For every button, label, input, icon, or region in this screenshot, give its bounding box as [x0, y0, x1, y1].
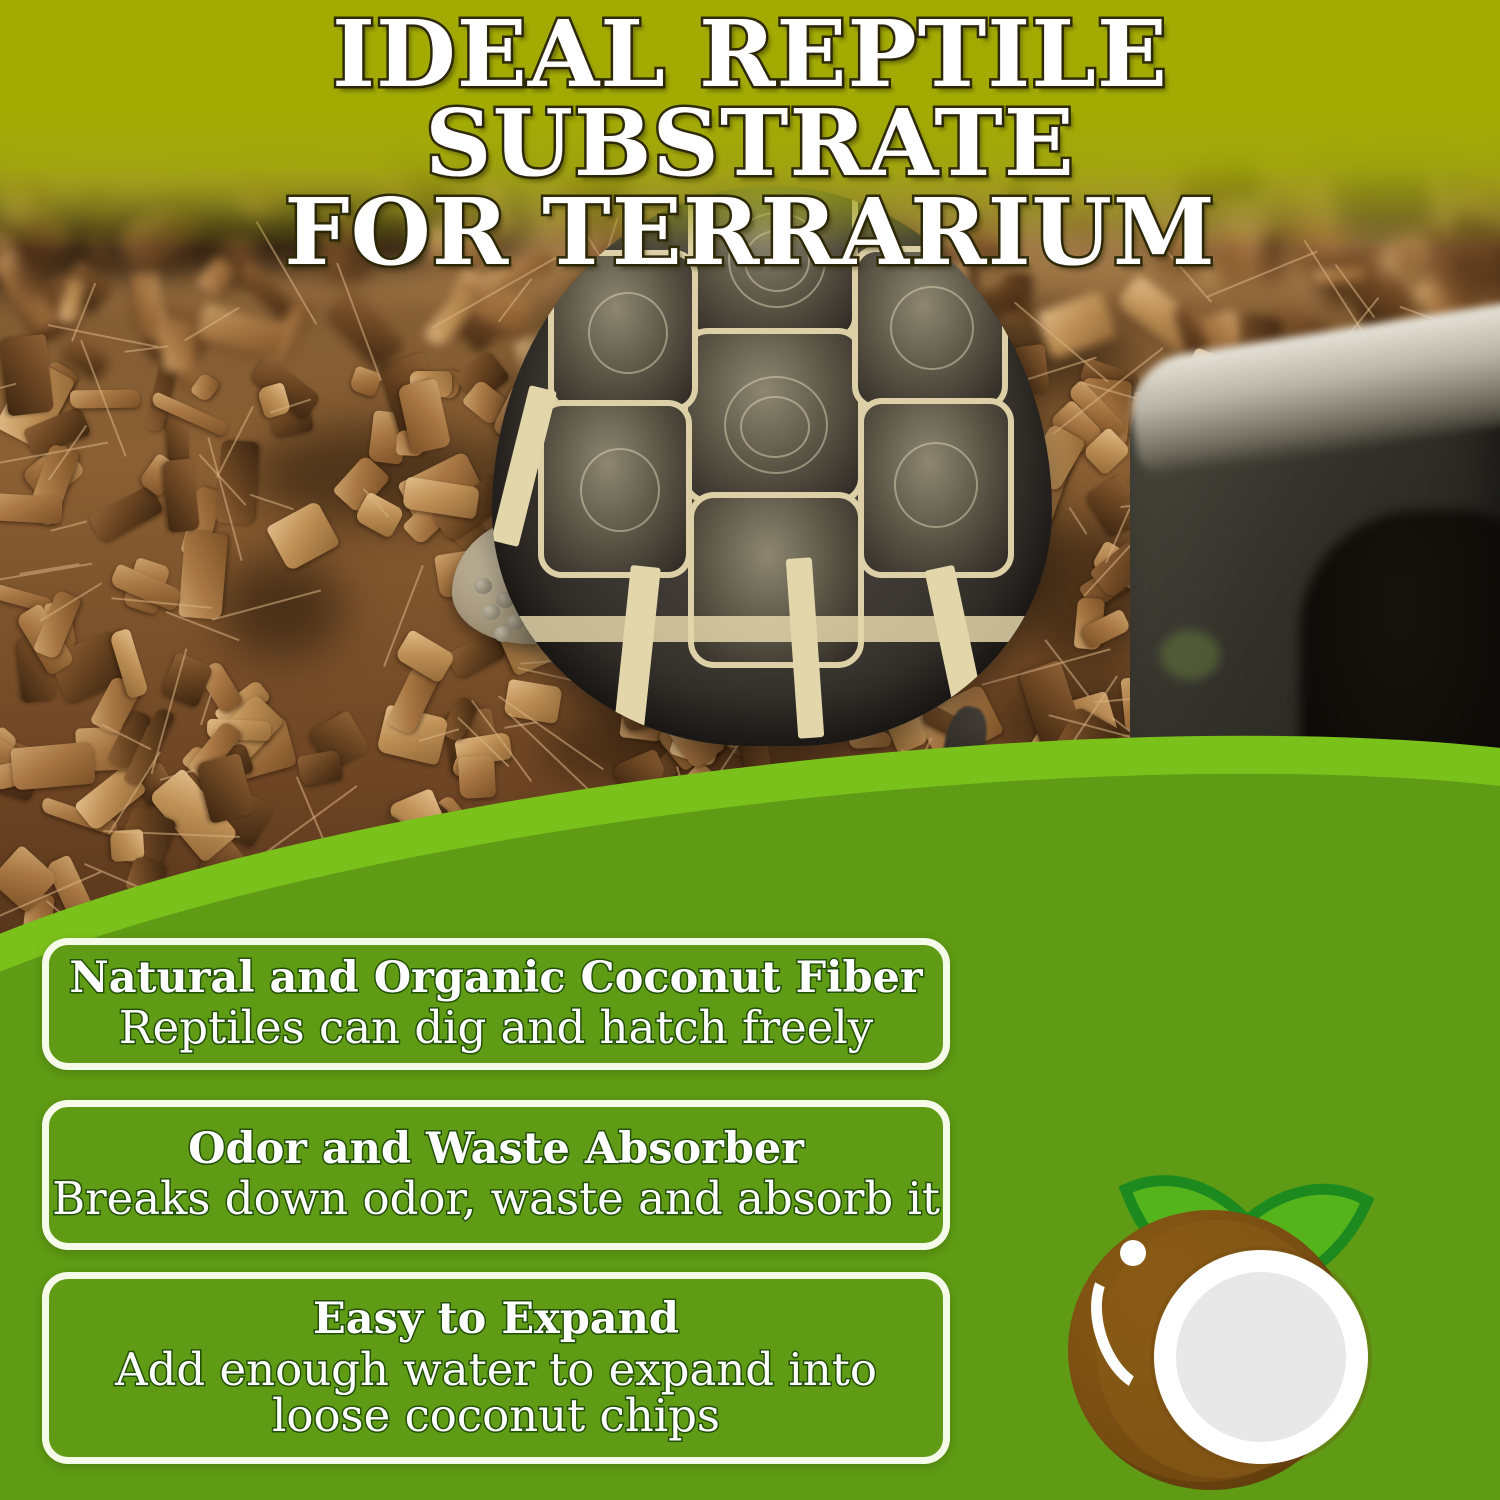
- product-infographic-poster: IDEAL REPTILE SUBSTRATE FOR TERRARIUM Na…: [0, 0, 1500, 1500]
- coconut-highlight-dot: [1120, 1240, 1146, 1266]
- coconut-icon: [1058, 1158, 1438, 1488]
- feature-subtitle: Reptiles can dig and hatch freely: [119, 1005, 873, 1052]
- feature-subtitle: Add enough water to expand into loose co…: [49, 1347, 943, 1439]
- page-title: IDEAL REPTILE SUBSTRATE FOR TERRARIUM: [0, 10, 1500, 278]
- feature-box-easy-to-expand[interactable]: Easy to Expand Add enough water to expan…: [42, 1272, 950, 1464]
- feature-title: Easy to Expand: [313, 1297, 679, 1343]
- feature-title: Natural and Organic Coconut Fiber: [69, 956, 922, 1002]
- coconut-flesh-core: [1176, 1272, 1346, 1442]
- feature-subtitle: Breaks down odor, waste and absorb it: [52, 1176, 940, 1223]
- headline-line-2: FOR TERRARIUM: [0, 188, 1500, 277]
- feature-box-natural-organic-coconut-fiber[interactable]: Natural and Organic Coconut Fiber Reptil…: [42, 938, 950, 1070]
- headline-line-1: IDEAL REPTILE SUBSTRATE: [332, 0, 1168, 197]
- feature-title: Odor and Waste Absorber: [188, 1127, 804, 1173]
- feature-box-odor-and-waste-absorber[interactable]: Odor and Waste Absorber Breaks down odor…: [42, 1100, 950, 1250]
